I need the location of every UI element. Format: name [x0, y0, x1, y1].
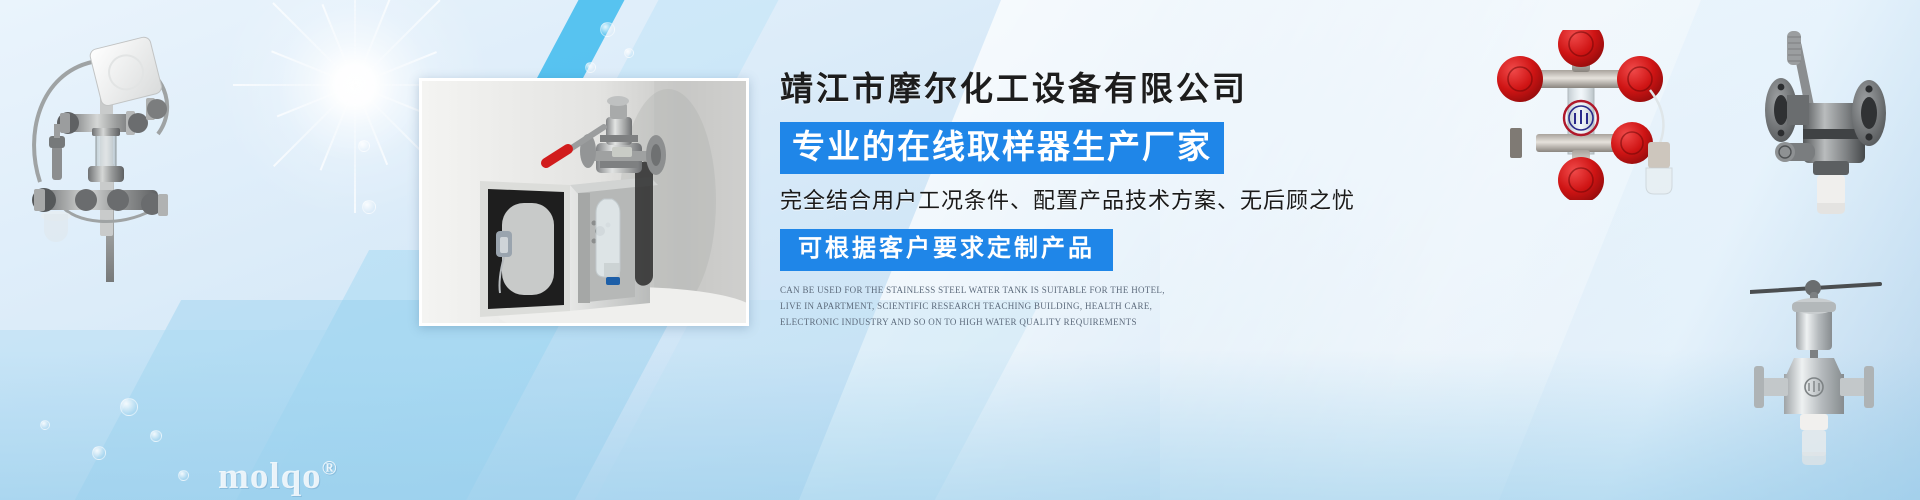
company-name: 靖江市摩尔化工设备有限公司 — [780, 72, 1400, 108]
lower-diagonal-b — [59, 300, 681, 500]
left-product-sampler — [0, 14, 200, 284]
registered-mark-icon: ® — [322, 458, 338, 480]
banner-text-block: 靖江市摩尔化工设备有限公司 专业的在线取样器生产厂家 完全结合用户工况条件、配置… — [780, 72, 1400, 331]
promotional-banner: 靖江市摩尔化工设备有限公司 专业的在线取样器生产厂家 完全结合用户工况条件、配置… — [0, 0, 1920, 500]
subheadline: 完全结合用户工况条件、配置产品技术方案、无后顾之忧 — [780, 188, 1400, 214]
droplet-icon — [150, 430, 162, 442]
headline-badge: 专业的在线取样器生产厂家 — [780, 122, 1224, 174]
watermark-text: molqo — [218, 456, 322, 497]
droplet-icon — [40, 420, 50, 430]
watermark-logo: molqo® — [218, 455, 338, 498]
product-photo-sampling-cabinet — [419, 78, 749, 326]
droplet-icon — [585, 62, 596, 73]
droplet-icon — [178, 470, 189, 481]
tagline-badge: 可根据客户要求定制产品 — [780, 229, 1113, 272]
right-product-lever-valve — [1745, 25, 1920, 220]
droplet-icon — [362, 200, 376, 214]
droplet-icon — [358, 140, 370, 152]
right-product-cross-valve — [1480, 30, 1720, 200]
droplet-icon — [624, 48, 634, 58]
droplet-icon — [92, 446, 106, 460]
english-description: CAN BE USED FOR THE STAINLESS STEEL WATE… — [780, 283, 1180, 330]
droplet-icon — [600, 22, 615, 37]
right-product-clamp-valve — [1750, 262, 1920, 467]
droplet-icon — [120, 398, 138, 416]
